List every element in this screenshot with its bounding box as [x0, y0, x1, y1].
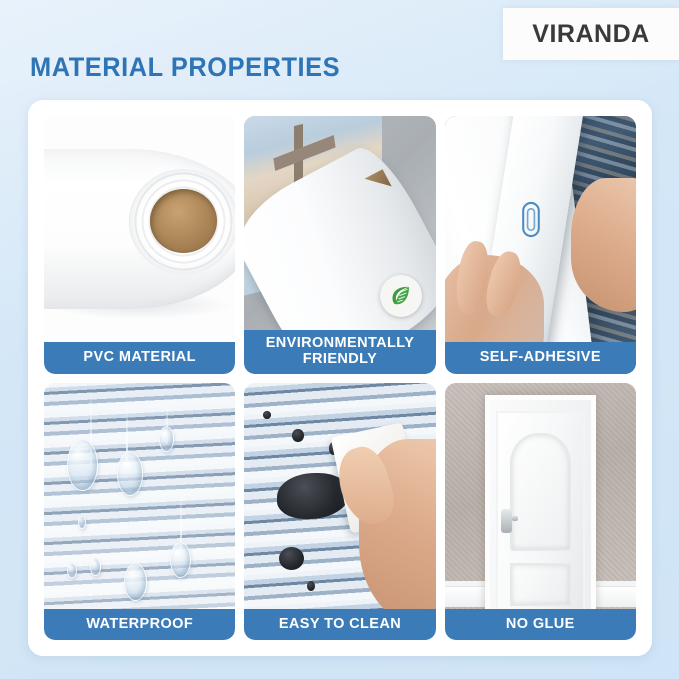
waterproof-photo: [44, 383, 235, 641]
feature-card: PVC MATERIAL: [28, 100, 652, 656]
feature-tile-environmentally-friendly[interactable]: ENVIRONMENTALLY FRIENDLY: [244, 116, 435, 374]
striped-surface: [44, 383, 235, 641]
eco-badge: [380, 275, 422, 317]
page-title: MATERIAL PROPERTIES: [30, 52, 340, 83]
leaf-icon: [388, 283, 414, 309]
ink-stain: [279, 547, 304, 570]
water-droplet: [90, 558, 101, 576]
door-slab: [496, 411, 585, 612]
pvc-roll-photo: [44, 116, 235, 374]
label-line-1: ENVIRONMENTALLY: [246, 335, 433, 351]
self-adhesive-photo: [445, 116, 636, 374]
paperclip-icon: [521, 201, 541, 238]
vinyl-roll-body: [44, 149, 235, 309]
water-droplet: [117, 452, 144, 496]
water-droplet: [67, 439, 98, 491]
feature-label-environmentally-friendly: ENVIRONMENTALLY FRIENDLY: [244, 330, 435, 373]
door-panel-lower: [510, 563, 571, 606]
cardboard-core: [150, 189, 217, 253]
water-droplet: [67, 563, 77, 578]
feature-tile-self-adhesive[interactable]: SELF-ADHESIVE: [445, 116, 636, 374]
door-panel-arched: [510, 433, 571, 551]
feature-label-easy-to-clean: EASY TO CLEAN: [244, 609, 435, 640]
brand-name: VIRANDA: [532, 20, 649, 49]
feature-tile-easy-to-clean[interactable]: EASY TO CLEAN: [244, 383, 435, 641]
door-handle: [501, 509, 512, 533]
no-glue-photo: [445, 383, 636, 641]
feature-label-pvc-material: PVC MATERIAL: [44, 342, 235, 373]
label-line-2: FRIENDLY: [246, 351, 433, 367]
feature-grid: PVC MATERIAL: [44, 116, 636, 640]
water-droplet: [159, 426, 174, 452]
easy-to-clean-photo: [244, 383, 435, 641]
feature-tile-waterproof[interactable]: WATERPROOF: [44, 383, 235, 641]
feature-label-no-glue: NO GLUE: [445, 609, 636, 640]
ink-stain: [292, 429, 303, 442]
feature-label-waterproof: WATERPROOF: [44, 609, 235, 640]
ink-stain: [263, 411, 271, 419]
feature-tile-pvc-material[interactable]: PVC MATERIAL: [44, 116, 235, 374]
peel-corner-shadow: [364, 168, 392, 196]
feature-label-self-adhesive: SELF-ADHESIVE: [445, 342, 636, 373]
brand-badge: VIRANDA: [503, 8, 679, 60]
door-frame: [485, 395, 596, 616]
feature-tile-no-glue[interactable]: NO GLUE: [445, 383, 636, 641]
